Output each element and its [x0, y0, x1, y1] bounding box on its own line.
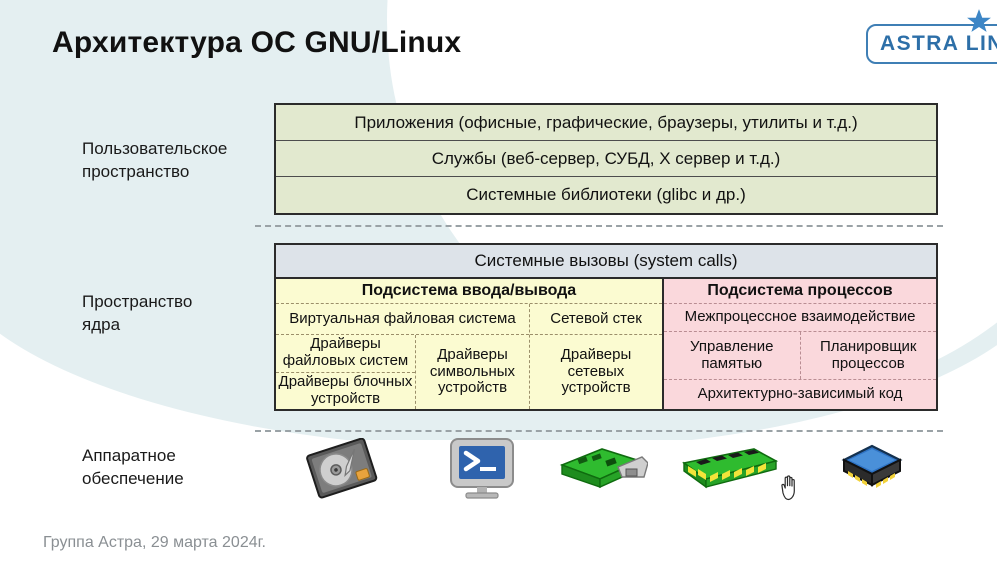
process-subsystem-title: Подсистема процессов — [664, 279, 936, 304]
cell-interprocess-communication: Межпроцессное взаимодействие — [664, 304, 936, 332]
terminal-monitor-icon — [447, 437, 517, 501]
user-space-row-applications: Приложения (офисные, графические, браузе… — [276, 105, 936, 141]
star-icon — [966, 8, 992, 34]
cell-char-device-drivers: Драйверы символьных устройств — [416, 335, 529, 409]
cell-memory-management: Управление памятью — [664, 332, 801, 379]
user-space-row-services: Службы (веб-сервер, СУБД, X сервер и т.д… — [276, 141, 936, 177]
label-hardware: Аппаратное обеспечение — [82, 445, 184, 491]
label-kernel-space: Пространство ядра — [82, 291, 192, 337]
label-user-space: Пользовательское пространство — [82, 138, 227, 184]
cell-virtual-file-system: Виртуальная файловая система — [276, 304, 529, 335]
separator-user-kernel — [255, 225, 943, 227]
process-subsystem: Подсистема процессов Межпроцессное взаим… — [664, 279, 936, 409]
system-calls-bar: Системные вызовы (system calls) — [276, 245, 936, 279]
ram-module-icon — [680, 447, 780, 495]
user-space-row-libraries: Системные библиотеки (glibc и др.) — [276, 177, 936, 213]
separator-kernel-hardware — [255, 430, 943, 432]
network-card-icon — [556, 447, 648, 493]
kernel-space-block: Системные вызовы (system calls) Подсисте… — [274, 243, 938, 411]
io-subsystem: Подсистема ввода/вывода Виртуальная файл… — [276, 279, 664, 409]
page-title: Архитектура ОС GNU/Linux — [52, 26, 461, 60]
logo-text: ASTRA LIN — [880, 32, 997, 56]
cell-process-scheduler: Планировщик процессов — [801, 332, 937, 379]
footer-text: Группа Астра, 29 марта 2024г. — [43, 534, 266, 552]
cell-architecture-dependent-code: Архитектурно-зависимый код — [664, 380, 936, 409]
hand-cursor — [776, 474, 800, 502]
cell-filesystem-drivers: Драйверы файловых систем — [276, 335, 415, 373]
cell-network-stack: Сетевой стек — [530, 304, 662, 335]
cpu-chip-icon — [840, 443, 904, 495]
cell-block-device-drivers: Драйверы блочных устройств — [276, 373, 415, 410]
cell-network-device-drivers: Драйверы сетевых устройств — [530, 335, 662, 409]
user-space-block: Приложения (офисные, графические, браузе… — [274, 103, 938, 215]
hard-disk-icon — [302, 438, 382, 500]
io-subsystem-title: Подсистема ввода/вывода — [276, 279, 662, 304]
